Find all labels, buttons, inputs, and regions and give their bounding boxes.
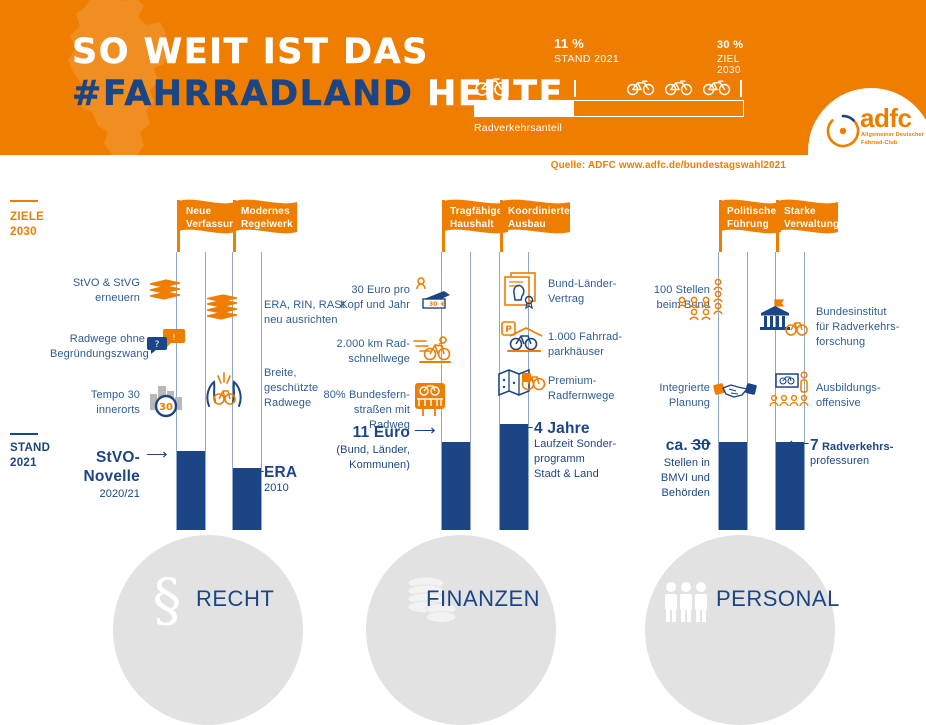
baseline-sub: 2010 (264, 481, 334, 496)
flag-line-1: Koordinierter (508, 205, 572, 218)
flag-label-modernes-regelwerk: Modernes Regelwerk (241, 205, 299, 231)
title-line-1: SO WEIT IST DAS (72, 32, 564, 72)
item-line-2: für Radverkehrs- (816, 320, 916, 335)
goal-divider (10, 200, 38, 202)
category-label-personal: PERSONAL (716, 586, 840, 612)
item-label: Bund-Länder- Vertrag (548, 277, 648, 307)
item-line-1: 30 Euro pro (338, 283, 410, 298)
item-line-2: neu ausrichten (264, 313, 364, 328)
axis-goal-line2: 2030 (10, 225, 44, 240)
item-label: 1.000 Fahrrad- parkhäuser (548, 330, 648, 360)
baseline-sub: Laufzeit Sonder- programm Stadt & Land (534, 437, 626, 482)
baseline-value-starke-verwaltung: 7 Radverkehrs- (810, 436, 920, 455)
arrow-right-icon: ⟶ (146, 447, 168, 462)
category-label-finanzen: FINANZEN (426, 586, 540, 612)
item-line-2: erneuern (55, 291, 140, 306)
bar-fill (719, 442, 747, 530)
baseline-value-neue-verfassung: StVO- Novelle (55, 448, 140, 486)
baseline-number-rest: Radverkehrs- (819, 441, 894, 453)
baseline-number: 7 (810, 437, 819, 454)
flag-line-1: Modernes (241, 205, 299, 218)
item-line-2: parkhäuser (548, 345, 648, 360)
bicycle-icon (626, 78, 656, 96)
item-line-1: Ausbildungs- (816, 381, 912, 396)
baseline-sub-line-1: Laufzeit Sonder- (534, 437, 626, 452)
arrow-left-icon: ⟵ (512, 420, 534, 435)
protected-bikeway-icon (203, 372, 245, 408)
fast-cyclist-icon (412, 333, 454, 365)
svg-text:§: § (153, 566, 182, 634)
adfc-wordmark: adfc (860, 105, 911, 131)
progress-tick-now (574, 80, 576, 97)
status-divider (10, 433, 38, 435)
item-label: 2.000 km Rad- schnellwege (328, 337, 410, 367)
institute-building-icon (757, 297, 809, 339)
title-line-2-rest: HEUTE (413, 74, 564, 114)
baseline-sub: professuren (810, 454, 910, 469)
flag-line-2: Führung (727, 218, 783, 231)
baseline-sub-line-1: Stellen in (622, 456, 710, 471)
item-line-1: Integrierte (632, 381, 710, 396)
paragraph-icon: § (146, 570, 188, 626)
item-line-1: Tempo 30 (52, 388, 140, 403)
title-hashtag: #FAHRRADLAND (72, 74, 413, 114)
book-stack-icon (146, 278, 184, 304)
category-circle-personal (645, 535, 835, 725)
baseline-sub: Stellen in BMVI und Behörden (622, 456, 710, 501)
flag-line-1: Politische (727, 205, 783, 218)
tempo-30-sign-icon: 30 (146, 380, 188, 418)
svg-text:30: 30 (429, 301, 437, 308)
adfc-tagline-1: Allgemeiner Deutscher (861, 132, 924, 138)
baseline-sub-line-3: Stadt & Land (534, 467, 626, 482)
flag-label-politische-fuehrung: Politische Führung (727, 205, 783, 231)
svg-text:€: € (440, 301, 445, 308)
handshake-icon (714, 378, 756, 402)
bar-fill (500, 424, 528, 530)
flag-line-1: Starke (784, 205, 840, 218)
item-line-2: Vertrag (548, 292, 648, 307)
category-label-recht: RECHT (196, 586, 274, 612)
infographic-root: SO WEIT IST DAS #FAHRRADLAND HEUTE 11 % … (0, 0, 926, 655)
axis-status-line2: 2021 (10, 456, 50, 471)
people-group-icon (674, 278, 726, 326)
axis-goal-line1: ZIELE (10, 210, 44, 225)
people-icon (663, 580, 711, 626)
page-title: SO WEIT IST DAS #FAHRRADLAND HEUTE (72, 32, 564, 123)
axis-label-status: STAND 2021 (10, 441, 50, 471)
book-stack-icon (203, 296, 241, 322)
bicycle-icon (702, 78, 732, 96)
item-label: Radwege ohne Begründungszwang (50, 332, 145, 362)
item-label: Integrierte Planung (632, 381, 710, 411)
item-line-2: offensive (816, 396, 912, 411)
item-label: StVO & StVG erneuern (55, 276, 140, 306)
item-label: Ausbildungs- offensive (816, 381, 912, 411)
item-line-2: innerorts (52, 403, 140, 418)
item-line-1: 80% Bundesfern- (314, 388, 410, 403)
arrow-right-icon: ⟶ (690, 436, 712, 451)
item-line-1: Breite, (264, 366, 350, 381)
item-line-2: schnellwege (328, 352, 410, 367)
baseline-line-1: StVO- (55, 448, 140, 467)
item-line-2: Planung (632, 396, 710, 411)
svg-text:30: 30 (159, 402, 173, 413)
svg-text:P: P (505, 325, 512, 335)
header-banner: SO WEIT IST DAS #FAHRRADLAND HEUTE 11 % … (0, 0, 926, 155)
training-icon (768, 372, 816, 410)
axis-label-goal: ZIELE 2030 (10, 210, 44, 240)
flag-line-2: Regelwerk (241, 218, 299, 231)
progress-goal-label: ZIEL 2030 (717, 54, 744, 76)
item-line-1: 2.000 km Rad- (328, 337, 410, 352)
arrow-left-icon: ⟵ (243, 464, 265, 479)
axis-status-line1: STAND (10, 441, 50, 456)
baseline-sub-line-3: Behörden (622, 486, 710, 501)
flag-line-2: Ausbau (508, 218, 572, 231)
adfc-tagline-2: Fahrrad-Club (861, 140, 897, 146)
item-line-1: Bundesinstitut (816, 305, 916, 320)
baseline-sub: 2020/21 (55, 487, 140, 502)
item-line-1: Radwege ohne (50, 332, 145, 347)
bike-parking-icon: P (500, 320, 544, 356)
bar-fill (776, 442, 804, 530)
speech-bubbles-icon: ! ? (147, 328, 187, 356)
item-line-2: Kopf und Jahr (338, 298, 410, 313)
flag-label-koordinierter-ausbau: Koordinierter Ausbau (508, 205, 572, 231)
arrow-left-icon: ⟵ (788, 436, 810, 451)
baseline-line-2: Novelle (55, 467, 140, 486)
baseline-value-tragfaehiger-haushalt: 11 Euro (316, 423, 410, 442)
adfc-emblem-icon (826, 114, 860, 148)
baseline-sub-line-2: programm (534, 452, 626, 467)
flag-label-neue-verfassung: Neue Verfassung (186, 205, 238, 231)
map-bike-icon (497, 367, 543, 401)
progress-goal-value: 30 % (717, 39, 743, 51)
flag-line-2: Verfassung (186, 218, 238, 231)
svg-text:?: ? (155, 340, 160, 350)
item-label: Bundesinstitut für Radverkehrs- forschun… (816, 305, 916, 350)
category-circle-recht (113, 535, 303, 725)
highway-bike-sign-icon (413, 381, 449, 417)
flag-line-1: Neue (186, 205, 238, 218)
baseline-sub: (Bund, Länder, Kommunen) (310, 443, 410, 473)
item-line-1: Bund-Länder- (548, 277, 648, 292)
item-label: Tempo 30 innerorts (52, 388, 140, 418)
item-line-1: 1.000 Fahrrad- (548, 330, 648, 345)
svg-text:!: ! (172, 333, 175, 342)
progress-caption: Radverkehrsanteil (474, 122, 562, 134)
arrow-right-icon: ⟶ (414, 423, 436, 438)
item-line-2: Begründungszwang (50, 347, 145, 362)
flag-line-2: Verwaltung (784, 218, 840, 231)
bar-fill (177, 451, 205, 530)
source-note: Quelle: ADFC www.adfc.de/bundestagswahl2… (551, 160, 786, 171)
bar-fill (442, 442, 470, 530)
baseline-sub-line-1: (Bund, Länder, (310, 443, 410, 458)
flag-label-starke-verwaltung: Starke Verwaltung (784, 205, 840, 231)
item-line-1: StVO & StVG (55, 276, 140, 291)
bicycle-icon (664, 78, 694, 96)
contract-icon (502, 271, 540, 309)
adfc-logo: adfc Allgemeiner Deutscher Fahrrad-Club (808, 88, 926, 155)
baseline-sub-line-2: Kommunen) (310, 458, 410, 473)
baseline-sub-line-2: BMVI und (622, 471, 710, 486)
item-label: 30 Euro pro Kopf und Jahr (338, 283, 410, 313)
progress-tick-goal (740, 80, 742, 97)
item-line-3: forschung (816, 335, 916, 350)
baseline-value-koordinierter-ausbau: 4 Jahre (534, 419, 620, 438)
money-icon: 30 € (412, 277, 452, 311)
category-circle-finanzen (366, 535, 556, 725)
